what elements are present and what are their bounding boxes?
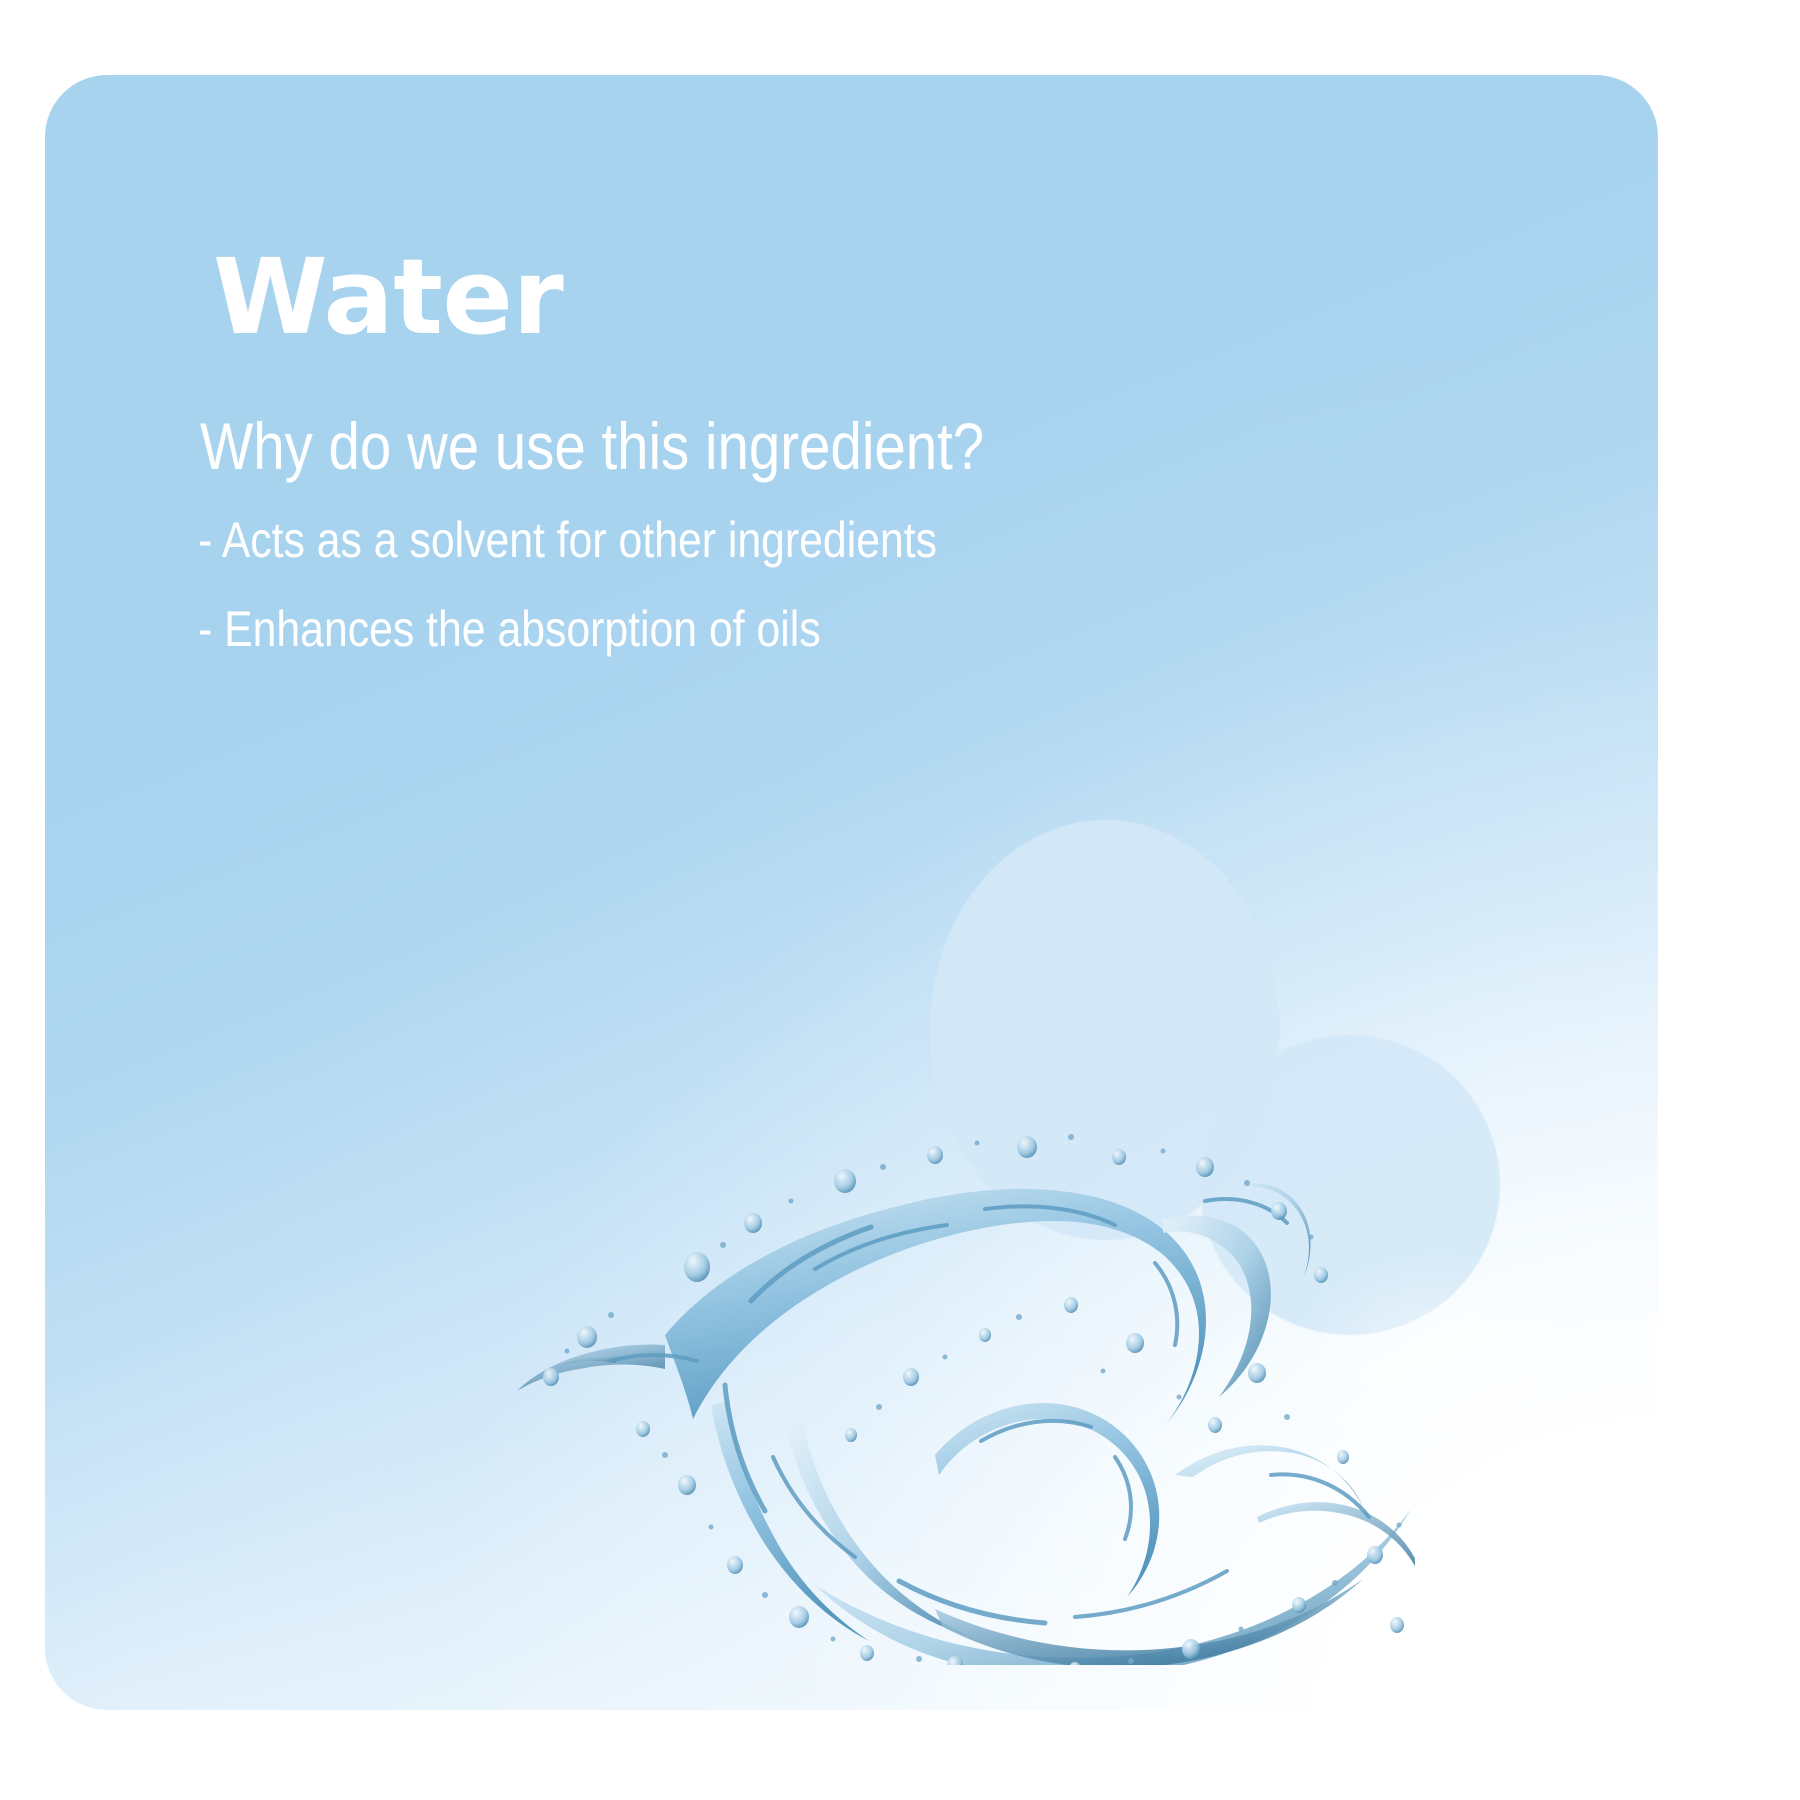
list-item: - Enhances the absorption of oils bbox=[198, 604, 1310, 654]
list-item: - Acts as a solvent for other ingredient… bbox=[198, 515, 1310, 565]
page-title: Water bbox=[213, 243, 563, 351]
ingredient-card-page: Water Why do we use this ingredient? - A… bbox=[0, 0, 1800, 1800]
benefits-list: - Acts as a solvent for other ingredient… bbox=[198, 515, 1498, 693]
subtitle: Why do we use this ingredient? bbox=[200, 412, 984, 482]
ingredient-card: Water Why do we use this ingredient? - A… bbox=[45, 75, 1658, 1710]
decorative-circle-small-icon bbox=[1200, 1035, 1500, 1335]
